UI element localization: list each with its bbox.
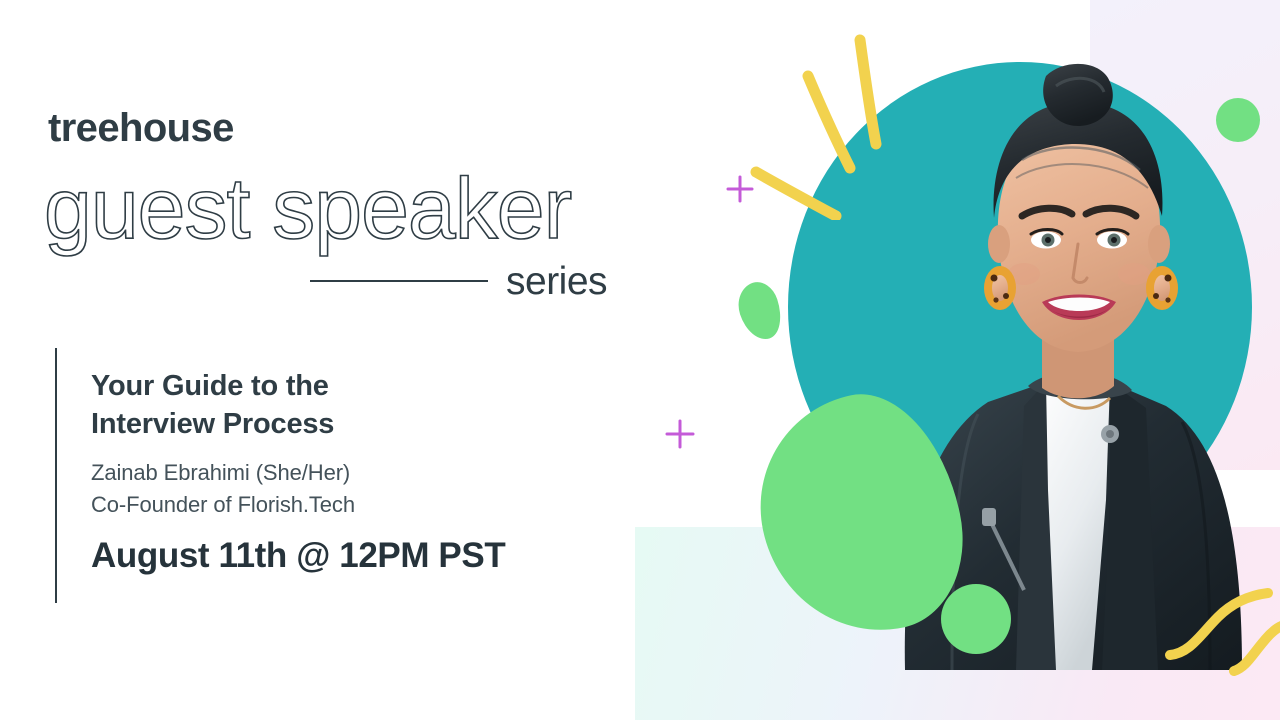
guest-speaker-headline: guest speaker xyxy=(40,160,660,265)
green-circle-icon-top-right xyxy=(1216,98,1260,142)
event-datetime: August 11th @ 12PM PST xyxy=(91,537,651,576)
series-label: series xyxy=(506,262,607,301)
green-circle-icon-bottom xyxy=(941,584,1011,654)
vertical-accent-rule xyxy=(55,348,57,603)
speaker-role: Co-Founder of Florish.Tech xyxy=(91,489,651,520)
series-row: series xyxy=(310,258,640,304)
plus-mark-icon-bottom xyxy=(664,418,696,450)
treehouse-wordmark: treehouse xyxy=(48,108,234,148)
guest-speaker-outline-text: guest speaker xyxy=(40,160,660,265)
svg-text:guest speaker: guest speaker xyxy=(44,161,572,257)
green-blob-icon-small-top xyxy=(732,277,788,345)
promo-card: treehouse guest speaker series Your Guid… xyxy=(0,0,1280,720)
event-info-block: Your Guide to the Interview Process Zain… xyxy=(91,368,651,575)
talk-title: Your Guide to the Interview Process xyxy=(91,368,651,443)
series-divider-rule xyxy=(310,280,488,282)
talk-title-line-2: Interview Process xyxy=(91,406,651,444)
speaker-name: Zainab Ebrahimi (She/Her) xyxy=(91,457,651,488)
speaker-details: Zainab Ebrahimi (She/Her) Co-Founder of … xyxy=(91,457,651,519)
plus-mark-icon-top xyxy=(725,174,755,204)
talk-title-line-1: Your Guide to the xyxy=(91,368,651,406)
